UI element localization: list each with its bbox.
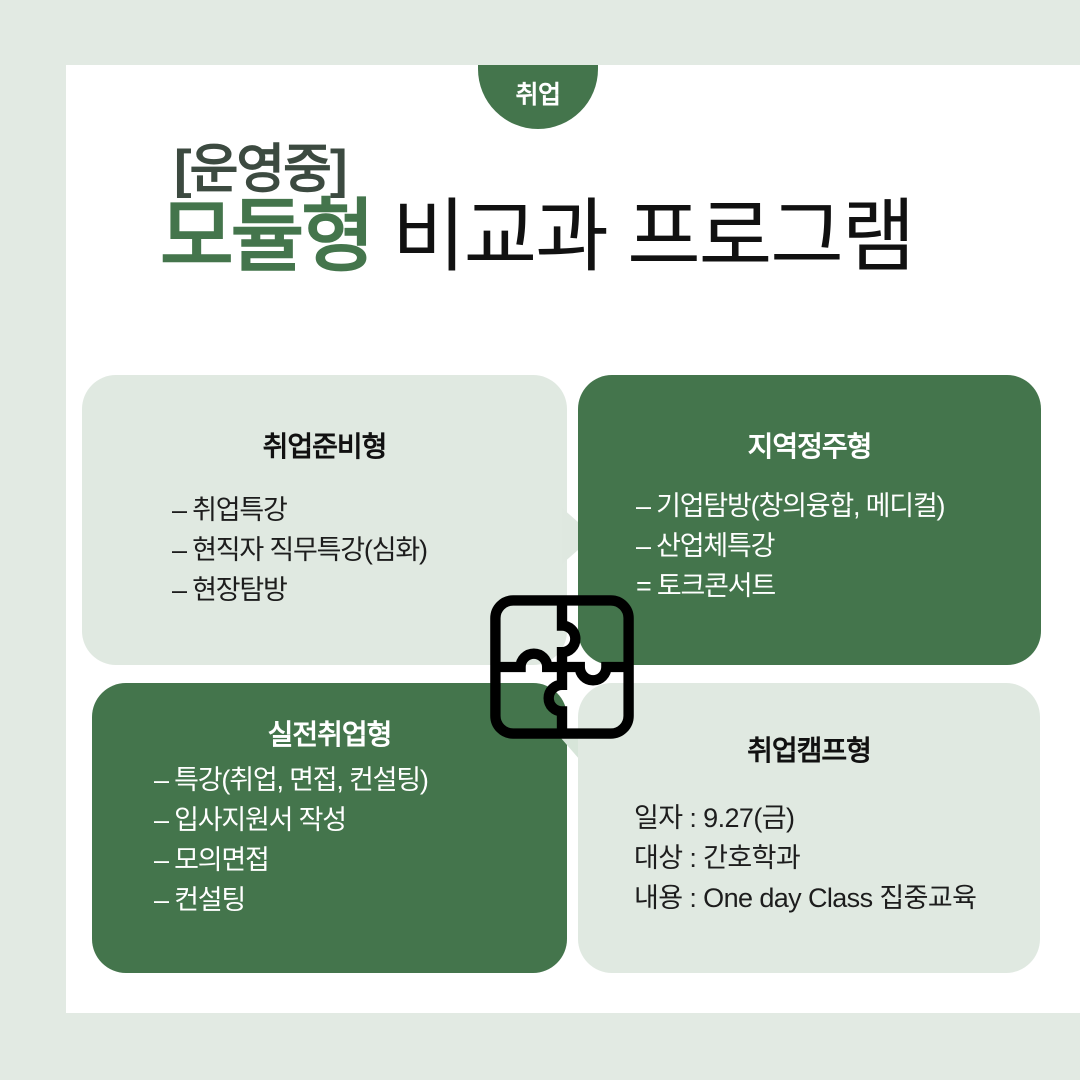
list-item: – 취업특강 [172, 491, 567, 531]
title-rest: 비교과 프로그램 [372, 192, 914, 281]
card-title: 지역정주형 [578, 425, 1041, 465]
category-badge: 취업 [478, 65, 598, 129]
list-item: = 토크콘서트 [636, 567, 1041, 607]
list-item: – 모의면접 [154, 841, 567, 881]
list-item: 내용 : One day Class 집중교육 [634, 879, 1040, 919]
puzzle-icon [488, 593, 636, 741]
program-card-local-settlement[interactable]: 지역정주형 – 기업탐방(창의융합, 메디컬) – 산업체특강 = 토크콘서트 [578, 375, 1041, 665]
list-item: – 기업탐방(창의융합, 메디컬) [636, 487, 1041, 527]
category-badge-label: 취업 [515, 83, 560, 111]
list-item: 일자 : 9.27(금) [634, 799, 1040, 839]
title-status-label: [운영중] [110, 143, 1050, 197]
page-title: [운영중] 모듈형 비교과 프로그램 [110, 143, 1050, 279]
card-item-list: 일자 : 9.27(금) 대상 : 간호학과 내용 : One day Clas… [578, 799, 1040, 919]
list-item: – 입사지원서 작성 [154, 801, 567, 841]
poster-panel: 취업 [운영중] 모듈형 비교과 프로그램 취업준비형 – 취업특강 – 현직자… [66, 65, 1080, 1013]
list-item: – 현직자 직무특강(심화) [172, 531, 567, 571]
card-title: 취업캠프형 [578, 729, 1040, 769]
card-item-list: – 기업탐방(창의융합, 메디컬) – 산업체특강 = 토크콘서트 [578, 487, 1041, 607]
program-card-employment-camp[interactable]: 취업캠프형 일자 : 9.27(금) 대상 : 간호학과 내용 : One da… [578, 683, 1040, 973]
list-item: – 특강(취업, 면접, 컨설팅) [154, 761, 567, 801]
card-title: 취업준비형 [82, 425, 567, 465]
title-highlight: 모듈형 [160, 192, 372, 281]
card-item-list: – 특강(취업, 면접, 컨설팅) – 입사지원서 작성 – 모의면접 – 컨설… [92, 761, 567, 921]
list-item: 대상 : 간호학과 [634, 839, 1040, 879]
list-item: – 컨설팅 [154, 881, 567, 921]
list-item: – 산업체특강 [636, 527, 1041, 567]
title-main: 모듈형 비교과 프로그램 [110, 195, 1050, 279]
